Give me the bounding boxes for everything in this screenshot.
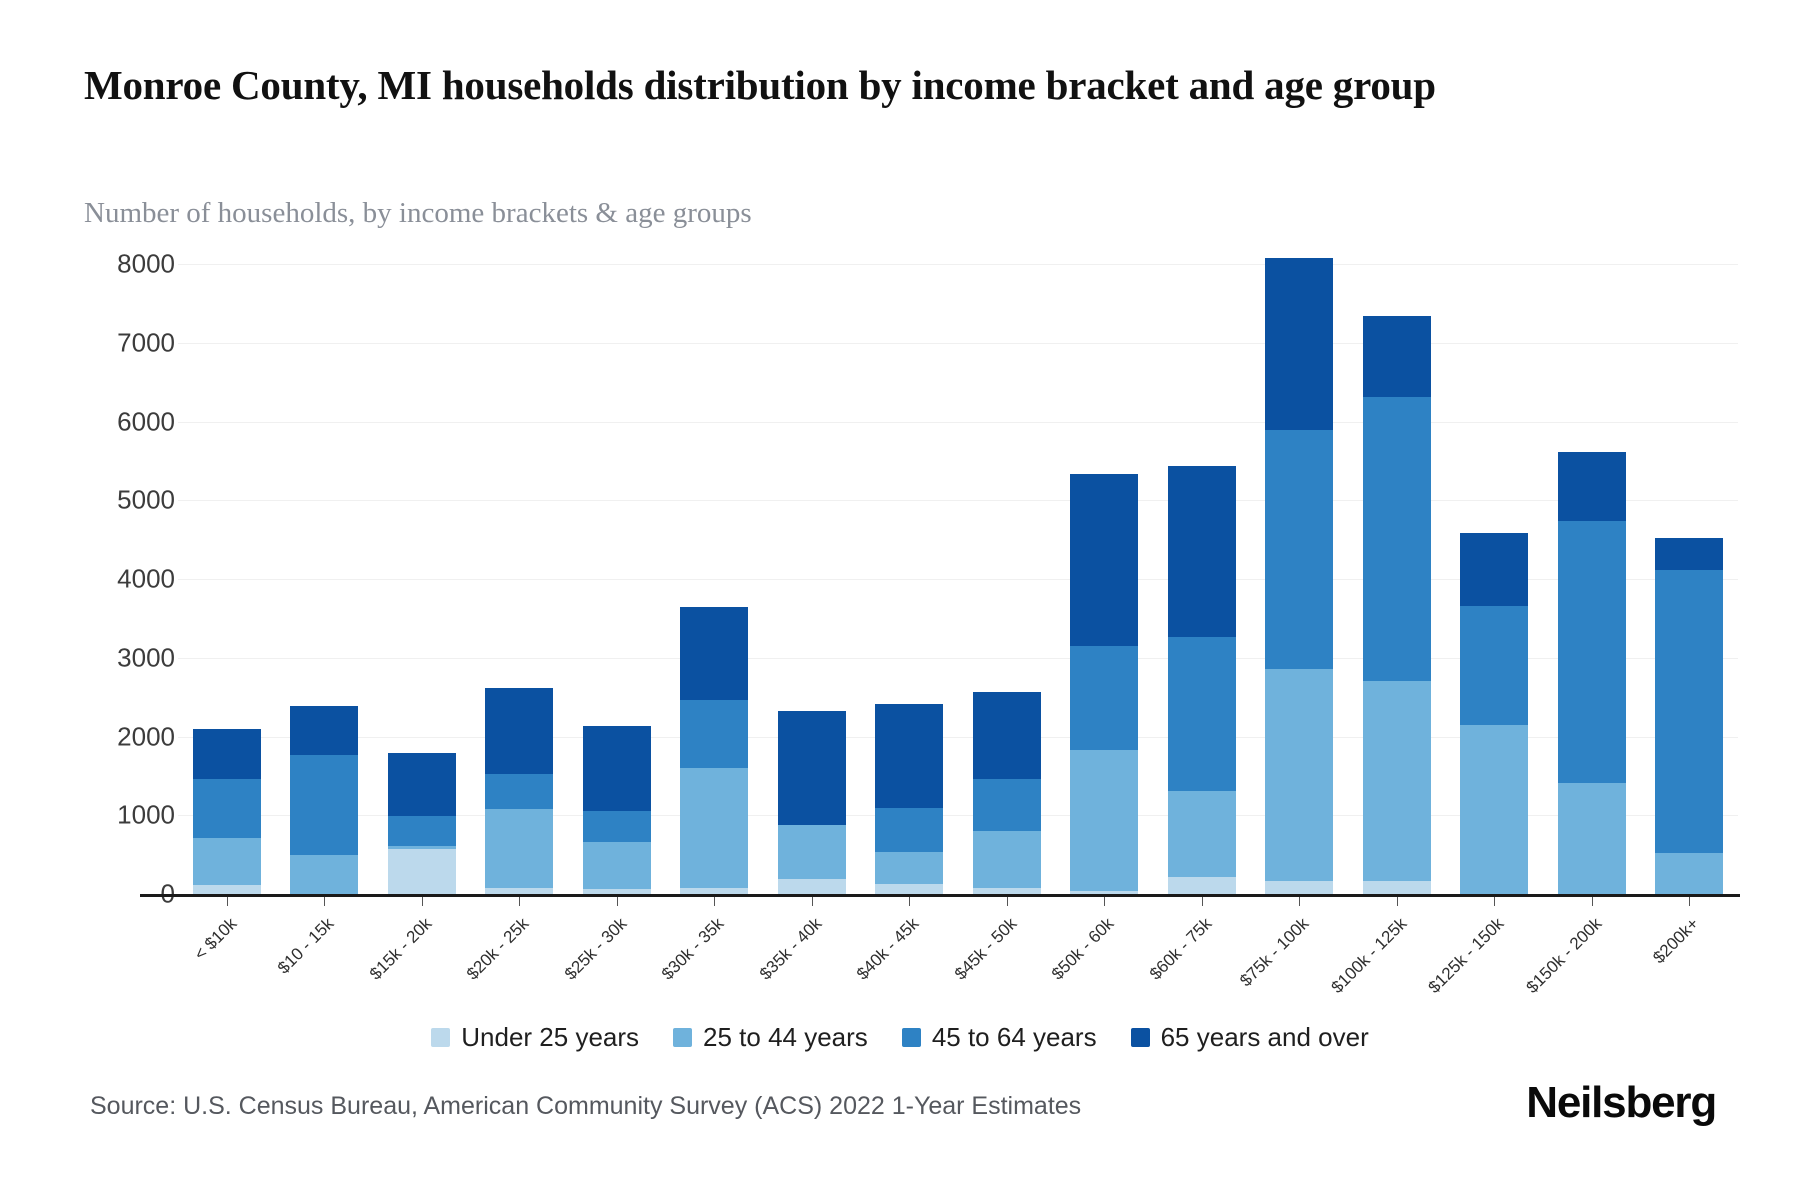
bar-segment[interactable] (583, 811, 651, 843)
legend-swatch-icon (1131, 1028, 1150, 1047)
bar-stack[interactable] (193, 729, 261, 894)
bar-segment[interactable] (1655, 570, 1723, 854)
bar-segment[interactable] (388, 849, 456, 894)
bar-segment[interactable] (875, 852, 943, 884)
bar-segment[interactable] (875, 808, 943, 852)
bar-stack[interactable] (778, 711, 846, 894)
x-axis-tick-mark (1397, 897, 1398, 906)
bar-segment[interactable] (583, 726, 651, 811)
x-axis-tick-mark (1299, 897, 1300, 906)
bar-stack[interactable] (485, 688, 553, 894)
legend-label: 45 to 64 years (932, 1022, 1097, 1053)
bar-stack[interactable] (1070, 474, 1138, 894)
bar-segment[interactable] (1655, 538, 1723, 570)
x-axis-tick-mark (324, 897, 325, 906)
bar-segment[interactable] (1460, 725, 1528, 894)
bar-segment[interactable] (973, 779, 1041, 831)
brand-logo: Neilsberg (1526, 1078, 1716, 1128)
bar-segment[interactable] (1558, 452, 1626, 521)
bar-segment[interactable] (485, 809, 553, 888)
x-axis-tick-mark (714, 897, 715, 906)
bar-segment[interactable] (1363, 316, 1431, 398)
legend-label: 25 to 44 years (703, 1022, 868, 1053)
x-axis-tick-mark (519, 897, 520, 906)
bar-stack[interactable] (1655, 538, 1723, 894)
bar-stack[interactable] (1460, 533, 1528, 894)
bar-stack[interactable] (875, 704, 943, 894)
bar-stack[interactable] (583, 726, 651, 894)
bar-segment[interactable] (193, 779, 261, 838)
bar-segment[interactable] (1168, 466, 1236, 637)
bar-segment[interactable] (680, 700, 748, 768)
bar-stack[interactable] (290, 706, 358, 894)
bar-segment[interactable] (388, 753, 456, 816)
bar-segment[interactable] (1655, 853, 1723, 894)
bar-segment[interactable] (290, 755, 358, 855)
bar-segment[interactable] (485, 888, 553, 894)
x-axis-tick-mark (1104, 897, 1105, 906)
chart-legend: Under 25 years25 to 44 years45 to 64 yea… (0, 1022, 1800, 1053)
x-axis-tick-mark (812, 897, 813, 906)
bar-segment[interactable] (973, 888, 1041, 894)
bar-segment[interactable] (778, 879, 846, 894)
x-axis-tick-mark (617, 897, 618, 906)
bar-segment[interactable] (973, 831, 1041, 888)
bar-segment[interactable] (875, 704, 943, 808)
bar-segment[interactable] (1168, 637, 1236, 791)
legend-item[interactable]: 45 to 64 years (902, 1022, 1097, 1053)
bar-segment[interactable] (1070, 891, 1138, 894)
bar-segment[interactable] (290, 855, 358, 894)
bar-segment[interactable] (583, 889, 651, 895)
x-axis-tick-mark (1007, 897, 1008, 906)
legend-swatch-icon (902, 1028, 921, 1047)
bar-segment[interactable] (1363, 881, 1431, 894)
bar-segment[interactable] (583, 842, 651, 888)
bar-stack[interactable] (973, 692, 1041, 894)
bar-segment[interactable] (1558, 783, 1626, 894)
x-axis-tick-mark (1592, 897, 1593, 906)
bar-segment[interactable] (1558, 521, 1626, 782)
chart-plot-area: 010002000300040005000600070008000 < $10k… (0, 0, 1800, 1200)
x-axis-tick-mark (909, 897, 910, 906)
bar-segment[interactable] (388, 846, 456, 850)
x-axis-tick-mark (1494, 897, 1495, 906)
x-axis-tick-mark (227, 897, 228, 906)
bar-segment[interactable] (485, 688, 553, 774)
bar-segment[interactable] (193, 838, 261, 885)
bar-segment[interactable] (1363, 397, 1431, 681)
bar-segment[interactable] (778, 825, 846, 879)
bar-segment[interactable] (680, 768, 748, 888)
bar-segment[interactable] (973, 692, 1041, 779)
x-axis-tick-mark (1202, 897, 1203, 906)
bar-segment[interactable] (778, 711, 846, 825)
bar-segment[interactable] (1460, 533, 1528, 605)
bar-stack[interactable] (1363, 316, 1431, 894)
bar-stack[interactable] (1168, 466, 1236, 894)
bar-segment[interactable] (193, 729, 261, 779)
legend-item[interactable]: 65 years and over (1131, 1022, 1369, 1053)
legend-label: 65 years and over (1161, 1022, 1369, 1053)
bar-stack[interactable] (1265, 258, 1333, 894)
bar-segment[interactable] (1070, 750, 1138, 891)
bar-segment[interactable] (1070, 474, 1138, 646)
legend-swatch-icon (673, 1028, 692, 1047)
bar-segment[interactable] (875, 884, 943, 894)
bar-stack[interactable] (1558, 452, 1626, 894)
bar-segment[interactable] (193, 885, 261, 894)
bar-segment[interactable] (680, 888, 748, 894)
bar-segment[interactable] (290, 706, 358, 756)
x-axis-tick-mark (1689, 897, 1690, 906)
bar-stack[interactable] (680, 607, 748, 894)
bar-segment[interactable] (388, 816, 456, 845)
bar-segment[interactable] (1265, 258, 1333, 430)
legend-swatch-icon (431, 1028, 450, 1047)
bar-segment[interactable] (680, 607, 748, 699)
bar-segment[interactable] (1460, 606, 1528, 726)
bar-segment[interactable] (1168, 877, 1236, 894)
bar-segment[interactable] (1265, 430, 1333, 669)
legend-item[interactable]: 25 to 44 years (673, 1022, 868, 1053)
chart-page: Monroe County, MI households distributio… (0, 0, 1800, 1200)
x-axis-tick-mark (422, 897, 423, 906)
bar-segment[interactable] (1168, 791, 1236, 877)
legend-item[interactable]: Under 25 years (431, 1022, 639, 1053)
bar-stack[interactable] (388, 753, 456, 894)
legend-label: Under 25 years (461, 1022, 639, 1053)
bar-segment[interactable] (1363, 681, 1431, 881)
bar-segment[interactable] (485, 774, 553, 809)
bar-segment[interactable] (1265, 881, 1333, 894)
source-note: Source: U.S. Census Bureau, American Com… (90, 1092, 1081, 1121)
bar-segment[interactable] (1265, 669, 1333, 882)
bar-segment[interactable] (1070, 646, 1138, 751)
